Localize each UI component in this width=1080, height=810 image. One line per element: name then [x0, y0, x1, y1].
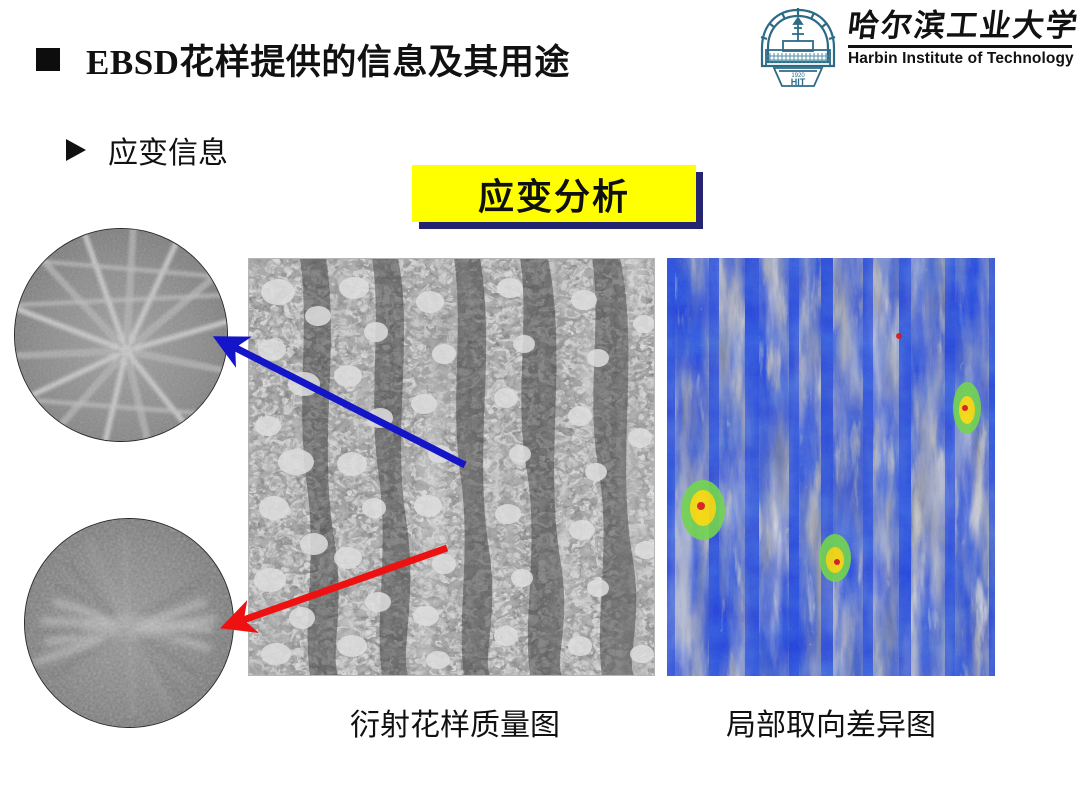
sub-bullet-label: 应变信息	[108, 128, 228, 172]
sub-bullet-row: 应变信息	[66, 128, 228, 172]
slide-title-row: EBSD花样提供的信息及其用途	[36, 34, 570, 85]
hit-logo-text: 哈尔滨工业大学 Harbin Institute of Technology	[848, 10, 1072, 90]
square-bullet-icon	[36, 48, 60, 71]
hit-logo-rule	[848, 45, 1072, 48]
hit-name-chinese: 哈尔滨工业大学	[846, 10, 1074, 43]
triangle-bullet-icon	[66, 139, 86, 161]
svg-text:HIT: HIT	[791, 77, 806, 87]
strain-analysis-callout: 应变分析	[412, 165, 696, 222]
diffuse-kikuchi-pattern	[24, 518, 234, 728]
sharp-kikuchi-pattern	[14, 228, 228, 442]
caption-band-contrast: 衍射花样质量图	[330, 700, 580, 744]
page-title: EBSD花样提供的信息及其用途	[86, 34, 570, 85]
hit-emblem-icon: 1920 HIT	[752, 6, 844, 94]
hit-name-english: Harbin Institute of Technology	[848, 50, 1072, 68]
band-contrast-map	[248, 258, 655, 676]
callout-label: 应变分析	[478, 168, 630, 220]
local-misorientation-map	[667, 258, 995, 676]
caption-misorientation: 局部取向差异图	[706, 700, 956, 744]
slide-canvas: EBSD花样提供的信息及其用途	[0, 0, 1080, 810]
hit-logo: 1920 HIT 哈尔滨工业大学 Harbin Institute of Tec…	[752, 6, 1072, 94]
